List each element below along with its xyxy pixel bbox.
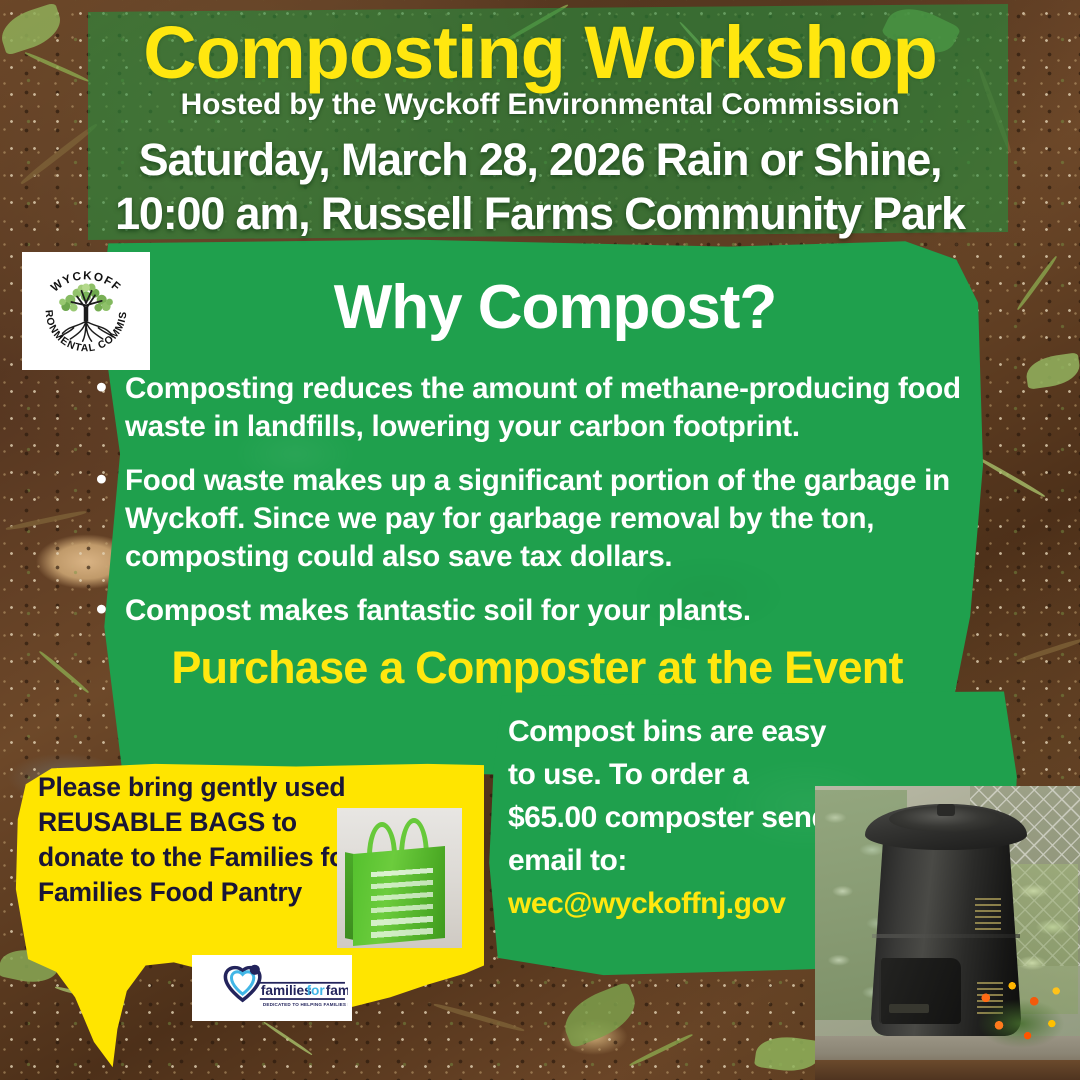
svg-text:DEDICATED TO HELPING FAMILIES: DEDICATED TO HELPING FAMILIES IN NEED: [263, 1002, 348, 1007]
marigold-flowers: [966, 972, 1076, 1058]
bin-copy-body: Compost bins are easy to use. To order a…: [508, 715, 829, 877]
event-date-line: Saturday, March 28, 2026 Rain or Shine,: [0, 133, 1080, 187]
event-location-line: 10:00 am, Russell Farms Community Park: [0, 187, 1080, 241]
wec-seal-icon: WYCKOFF ENVIRONMENTAL COMMISSION: [30, 255, 142, 367]
svg-text:families: families: [261, 983, 312, 998]
why-compost-heading: Why Compost?: [160, 272, 950, 343]
compost-bin-access-door: [879, 958, 961, 1024]
why-compost-bullet-list: Composting reduces the amount of methane…: [92, 370, 982, 646]
bullet-item: Food waste makes up a significant portio…: [92, 462, 982, 576]
compost-bin-photo: [815, 786, 1080, 1080]
families-for-families-logo: families for fam. DEDICATED TO HELPING F…: [192, 955, 352, 1021]
mulch-strip: [815, 1060, 1080, 1080]
compost-bin-door-handle: [889, 1004, 929, 1013]
reusable-bags-message: Please bring gently used REUSABLE BAGS t…: [38, 770, 368, 910]
purchase-composter-heading: Purchase a Composter at the Event: [92, 642, 982, 694]
bullet-item: Composting reduces the amount of methane…: [92, 370, 982, 446]
compost-bin-lid-knob: [937, 804, 955, 816]
reusable-bag-photo: [337, 808, 462, 948]
bin-seam-upper: [872, 934, 1020, 938]
families-for-families-icon: families for fam. DEDICATED TO HELPING F…: [196, 959, 348, 1017]
order-email-link[interactable]: wec@wyckoffnj.gov: [508, 882, 838, 925]
flyer-poster: Composting Workshop Hosted by the Wyckof…: [0, 0, 1080, 1080]
page-title: Composting Workshop: [0, 10, 1080, 95]
svg-text:fam.: fam.: [326, 983, 348, 998]
svg-text:for: for: [306, 983, 325, 998]
bin-vent-upper: [975, 898, 1001, 932]
compost-bin-ordering-text: Compost bins are easy to use. To order a…: [508, 710, 838, 925]
bag-printed-text-graphic: [371, 864, 433, 940]
wyckoff-environmental-commission-logo: WYCKOFF ENVIRONMENTAL COMMISSION: [22, 252, 150, 370]
bullet-item: Compost makes fantastic soil for your pl…: [92, 592, 982, 630]
host-subtitle: Hosted by the Wyckoff Environmental Comm…: [0, 88, 1080, 122]
event-datetime: Saturday, March 28, 2026 Rain or Shine, …: [0, 133, 1080, 241]
